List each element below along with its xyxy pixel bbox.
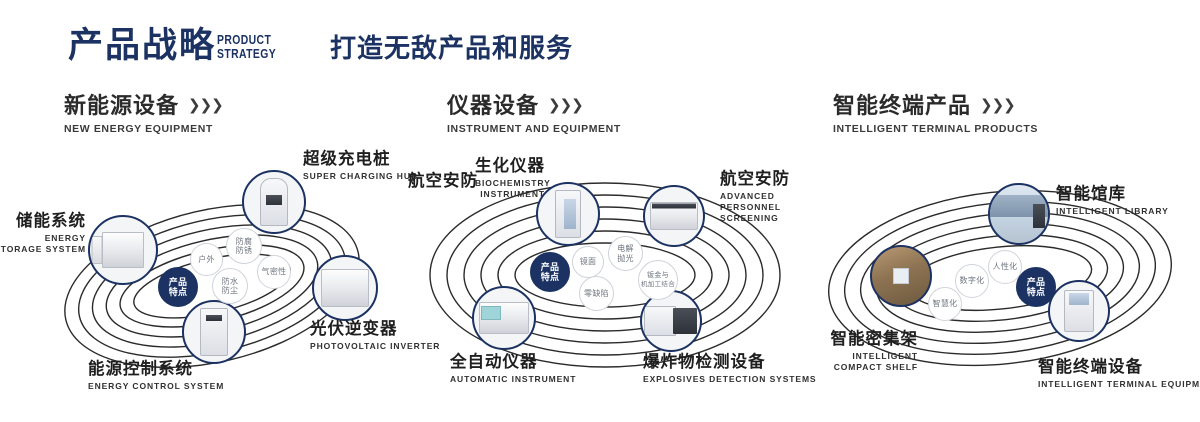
instrument-tray-icon [481, 306, 501, 320]
feature-bubble-line2: 防锈 [236, 246, 253, 256]
feature-bubble-line1: 电解 [617, 244, 634, 254]
label-aviation-security-left: 航空安防 [408, 172, 478, 191]
diagram-instrument: 产品 特点 镜面 电解 抛光 零缺陷 钣金与 机加工结合 航空安防 生化仪器 B… [400, 150, 820, 420]
chevron-right-triple-icon: ❯❯❯ [980, 93, 1015, 119]
node-advanced-personnel-screening[interactable] [643, 185, 705, 247]
label-en: AUTOMATIC INSTRUMENT [450, 374, 576, 385]
node-energy-storage-system[interactable] [88, 215, 158, 285]
pv-inverter-cabinet-icon [321, 269, 369, 307]
section-heading-intelligent-terminal: 智能终端产品❯❯❯ INTELLIGENT TERMINAL PRODUCTS [833, 93, 1038, 136]
page-header: 产品战略 PRODUCT STRATEGY 打造无敌产品和服务 [0, 0, 1200, 88]
label-cn: 智能终端设备 [1038, 358, 1200, 377]
section-heading-text: 仪器设备 [447, 93, 539, 118]
section-heading-instrument: 仪器设备❯❯❯ INSTRUMENT AND EQUIPMENT [447, 93, 621, 136]
feature-bubble-line1: 零缺陷 [584, 289, 609, 299]
label-explosives-detection-systems: 爆炸物检测设备 EXPLOSIVES DETECTION SYSTEMS [643, 353, 817, 385]
page-title-en-line1: PRODUCT [217, 33, 276, 47]
section-heading-cn: 智能终端产品❯❯❯ [833, 93, 1038, 119]
label-en: ENERGY STORAGE SYSTEM [0, 233, 86, 255]
label-cn: 生化仪器 [475, 157, 545, 176]
feature-bubble-airtightness: 气密性 [257, 255, 291, 289]
feature-bubble-electrolytic-polishing: 电解 抛光 [608, 236, 643, 271]
node-energy-control-system[interactable] [182, 300, 246, 364]
section-heading-en: NEW ENERGY EQUIPMENT [64, 122, 223, 136]
section-heading-text: 新能源设备 [64, 93, 179, 118]
feature-bubble-line2: 抛光 [617, 254, 634, 264]
feature-bubble-digitalization: 数字化 [955, 264, 989, 298]
section-heading-new-energy: 新能源设备❯❯❯ NEW ENERGY EQUIPMENT [64, 93, 223, 136]
label-energy-storage-system: 储能系统 ENERGY STORAGE SYSTEM [0, 212, 86, 255]
core-bubble-product-features: 产品 特点 [158, 267, 198, 307]
core-bubble-line1: 产品 [541, 262, 560, 273]
diagram-intelligent-terminal: 智慧化 数字化 人性化 产品 特点 智能馆库 INTELLIGENT LIBRA… [800, 150, 1200, 420]
section-heading-en: INSTRUMENT AND EQUIPMENT [447, 122, 621, 136]
feature-bubble-sheet-metal-machining: 钣金与 机加工结合 [638, 260, 678, 300]
label-cn: 爆炸物检测设备 [643, 353, 817, 372]
feature-bubble-intelligentization: 智慧化 [928, 287, 962, 321]
screening-panel-icon [652, 204, 696, 209]
page-title-en-line2: STRATEGY [217, 47, 276, 61]
label-en: BIOCHEMISTRY INSTRUMENT [475, 178, 545, 200]
feature-bubble-waterproof: 防水 防尘 [212, 268, 248, 304]
label-cn: 全自动仪器 [450, 353, 576, 372]
detector-module-icon [673, 308, 697, 334]
node-biochemistry-instrument[interactable] [536, 182, 600, 246]
label-cn: 能源控制系统 [88, 360, 224, 379]
scanner-glass-icon [564, 199, 576, 229]
node-intelligent-compact-shelf[interactable] [870, 245, 932, 307]
charging-screen-icon [266, 195, 282, 205]
library-cabinet-icon [1033, 204, 1045, 228]
feature-bubble-anticorrosion: 防腐 防锈 [226, 228, 262, 264]
kiosk-screen-icon [1069, 293, 1089, 305]
page-title-cn: 产品战略 [68, 28, 216, 63]
feature-bubble-line1: 数字化 [960, 276, 985, 286]
shelf-panel-icon [893, 268, 909, 284]
label-en: EXPLOSIVES DETECTION SYSTEMS [643, 374, 817, 385]
label-intelligent-compact-shelf: 智能密集架 INTELLIGENT COMPACT SHELF [818, 330, 918, 373]
label-en: ENERGY CONTROL SYSTEM [88, 381, 224, 392]
label-automatic-instrument: 全自动仪器 AUTOMATIC INSTRUMENT [450, 353, 576, 385]
feature-bubble-line1: 人性化 [993, 262, 1018, 272]
feature-bubble-line2: 机加工结合 [641, 280, 675, 290]
storage-pillar-icon [92, 236, 103, 264]
node-intelligent-library[interactable] [988, 183, 1050, 245]
node-automatic-instrument[interactable] [472, 286, 536, 350]
chevron-right-triple-icon: ❯❯❯ [188, 93, 223, 119]
core-bubble-line1: 产品 [1027, 277, 1046, 288]
label-en: INTELLIGENT TERMINAL EQUIPMENT [1038, 379, 1200, 390]
feature-bubble-line1: 钣金与 [647, 271, 669, 281]
feature-bubble-line1: 户外 [198, 255, 215, 265]
feature-bubble-mirror-finish: 镜面 [572, 246, 604, 278]
section-heading-text: 智能终端产品 [833, 93, 971, 118]
energy-storage-cabinet-icon [102, 232, 144, 268]
label-en: ADVANCED PERSONNEL SCREENING [720, 191, 812, 224]
core-bubble-line1: 产品 [169, 277, 188, 288]
label-advanced-personnel-screening: 航空安防 ADVANCED PERSONNEL SCREENING [720, 170, 812, 224]
feature-bubble-line1: 气密性 [262, 267, 287, 277]
label-intelligent-terminal-equipment: 智能终端设备 INTELLIGENT TERMINAL EQUIPMENT [1038, 358, 1200, 390]
core-bubble-product-features: 产品 特点 [530, 252, 570, 292]
label-cn: 储能系统 [0, 212, 86, 231]
core-bubble-line2: 特点 [541, 272, 560, 283]
chevron-right-triple-icon: ❯❯❯ [548, 93, 583, 119]
detector-body-icon [644, 306, 676, 336]
core-bubble-line2: 特点 [1027, 287, 1046, 298]
page-title-en: PRODUCT STRATEGY [217, 33, 276, 61]
core-bubble-product-features: 产品 特点 [1016, 267, 1056, 307]
section-heading-en: INTELLIGENT TERMINAL PRODUCTS [833, 122, 1038, 136]
core-bubble-line2: 特点 [169, 287, 188, 298]
label-energy-control-system: 能源控制系统 ENERGY CONTROL SYSTEM [88, 360, 224, 392]
label-cn: 航空安防 [408, 172, 478, 191]
node-explosives-detection-systems[interactable] [640, 290, 702, 352]
label-cn: 智能馆库 [1056, 185, 1169, 204]
feature-bubble-line1: 镜面 [580, 257, 597, 267]
label-cn: 智能密集架 [818, 330, 918, 349]
feature-bubble-line1: 防腐 [236, 237, 253, 247]
label-cn: 航空安防 [720, 170, 812, 189]
product-strategy-infographic: 产品战略 PRODUCT STRATEGY 打造无敌产品和服务 新能源设备❯❯❯… [0, 0, 1200, 422]
feature-bubble-zero-defect: 零缺陷 [579, 276, 614, 311]
label-en: INTELLIGENT LIBRARY [1056, 206, 1169, 217]
control-panel-icon [206, 315, 222, 321]
diagram-new-energy: 产品 特点 户外 防腐 防锈 防水 防尘 气密性 储能系统 ENERGY STO… [0, 150, 420, 420]
label-biochemistry-instrument: 生化仪器 BIOCHEMISTRY INSTRUMENT [475, 157, 545, 200]
label-intelligent-library: 智能馆库 INTELLIGENT LIBRARY [1056, 185, 1169, 217]
node-photovoltaic-inverter[interactable] [312, 255, 378, 321]
feature-bubble-line2: 防尘 [222, 286, 239, 296]
label-en: INTELLIGENT COMPACT SHELF [818, 351, 918, 373]
section-heading-cn: 新能源设备❯❯❯ [64, 93, 223, 119]
section-heading-cn: 仪器设备❯❯❯ [447, 93, 621, 119]
node-intelligent-terminal-equipment[interactable] [1048, 280, 1110, 342]
feature-bubble-line1: 智慧化 [933, 299, 958, 309]
feature-bubble-line1: 防水 [222, 277, 239, 287]
page-subtitle: 打造无敌产品和服务 [330, 35, 573, 61]
node-super-charging-hub[interactable] [242, 170, 306, 234]
